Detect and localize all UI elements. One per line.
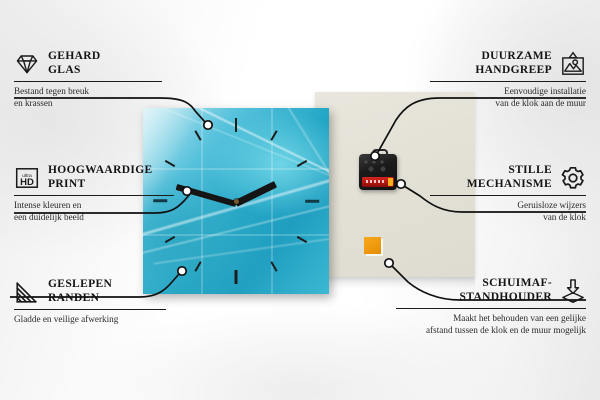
feature-title-line2: GLAS <box>48 64 101 78</box>
battery-label <box>366 180 386 183</box>
gear-icon <box>560 165 586 191</box>
feature-desc-line1: Bestand tegen breuk <box>14 86 162 97</box>
feature-divider <box>396 308 586 309</box>
feature-title-line2: STANDHOUDER <box>460 291 552 305</box>
feature-head: SCHUIMAF- STANDHOUDER <box>396 277 586 304</box>
bevelled-edge-icon <box>14 279 40 305</box>
feature-title: GESLEPEN RANDEN <box>48 278 112 305</box>
feature-desc-line2: een duidelijk beeld <box>14 212 174 223</box>
feature-head: DUURZAME HANDGREEP <box>430 50 586 77</box>
foam-spacer <box>364 237 381 254</box>
feature-stille-mechanisme: STILLE MECHANISME Geruisloze wijzers van… <box>430 164 586 223</box>
feature-desc-line1: Maakt het behouden van een gelijke <box>396 313 586 324</box>
clock-tick <box>165 235 176 242</box>
mechanism-hanger <box>372 149 388 158</box>
framed-picture-icon <box>560 51 586 77</box>
feature-title-line2: HANDGREEP <box>475 64 552 78</box>
feature-head: ultra HD HOOGWAARDIGE PRINT <box>14 164 174 191</box>
feature-description: Geruisloze wijzers van de klok <box>430 200 586 223</box>
feature-title-line2: RANDEN <box>48 292 112 306</box>
feature-title-line2: MECHANISME <box>467 178 552 192</box>
clock-tick <box>235 118 238 132</box>
feature-schuimafstandhouder: SCHUIMAF- STANDHOUDER Maakt het behouden… <box>396 277 586 336</box>
feature-divider <box>14 195 174 196</box>
clock-tick <box>305 200 319 203</box>
feature-description: Intense kleuren en een duidelijk beeld <box>14 200 174 223</box>
feature-hoogwaardige-print: ultra HD HOOGWAARDIGE PRINT Intense kleu… <box>14 164 174 223</box>
battery <box>362 177 394 187</box>
feature-desc-line1: Intense kleuren en <box>14 200 174 211</box>
feature-title: DUURZAME HANDGREEP <box>475 50 552 77</box>
feature-description: Eenvoudige installatie van de klok aan d… <box>430 86 586 109</box>
feature-title-line1: SCHUIMAF- <box>460 277 552 291</box>
feature-desc-line2: afstand tussen de klok en de muur mogeli… <box>396 325 586 336</box>
feature-title-line1: DUURZAME <box>475 50 552 64</box>
feature-description: Bestand tegen breuk en krassen <box>14 86 162 109</box>
feature-title-line1: STILLE <box>467 164 552 178</box>
ultra-hd-icon-big-text: HD <box>20 176 34 187</box>
feature-divider <box>14 309 166 310</box>
feature-title-line1: GEHARD <box>48 50 101 64</box>
feature-desc-line2: van de klok <box>430 212 586 223</box>
feature-desc-line2: van de klok aan de muur <box>430 98 586 109</box>
ultra-hd-icon: ultra HD <box>14 165 40 191</box>
clock-tick <box>235 270 238 284</box>
feature-head: GESLEPEN RANDEN <box>14 278 166 305</box>
mechanism-detail <box>363 159 393 172</box>
feature-geslepen-randen: GESLEPEN RANDEN Gladde en veilige afwerk… <box>14 278 166 326</box>
feature-title: GEHARD GLAS <box>48 50 101 77</box>
feature-head: STILLE MECHANISME <box>430 164 586 191</box>
feature-head: GEHARD GLAS <box>14 50 162 77</box>
product-photo <box>125 92 475 300</box>
glass-glare <box>143 234 329 236</box>
clock-mechanism <box>359 154 397 190</box>
feature-divider <box>430 195 586 196</box>
feature-description: Maakt het behouden van een gelijke afsta… <box>396 313 586 336</box>
feature-description: Gladde en veilige afwerking <box>14 314 166 325</box>
feature-divider <box>14 81 162 82</box>
feature-desc-line2: en krassen <box>14 98 162 109</box>
clock-center-pin <box>234 199 239 204</box>
feature-title-line1: GESLEPEN <box>48 278 112 292</box>
feature-title-line1: HOOGWAARDIGE <box>48 164 153 178</box>
diamond-icon <box>14 51 40 77</box>
glass-glare <box>201 108 203 294</box>
feature-divider <box>430 81 586 82</box>
feature-title-line2: PRINT <box>48 178 153 192</box>
feature-desc-line1: Gladde en veilige afwerking <box>14 314 166 325</box>
minute-hand <box>176 184 237 207</box>
infographic-canvas: GEHARD GLAS Bestand tegen breuk en krass… <box>0 0 600 400</box>
feature-desc-line1: Geruisloze wijzers <box>430 200 586 211</box>
feature-desc-line1: Eenvoudige installatie <box>430 86 586 97</box>
spacer-stack-icon <box>560 278 586 304</box>
feature-title: SCHUIMAF- STANDHOUDER <box>460 277 552 304</box>
feature-duurzame-handgreep: DUURZAME HANDGREEP Eenvoudige installati… <box>430 50 586 109</box>
feature-gehard-glas: GEHARD GLAS Bestand tegen breuk en krass… <box>14 50 162 109</box>
feature-title: STILLE MECHANISME <box>467 164 552 191</box>
feature-title: HOOGWAARDIGE PRINT <box>48 164 153 191</box>
